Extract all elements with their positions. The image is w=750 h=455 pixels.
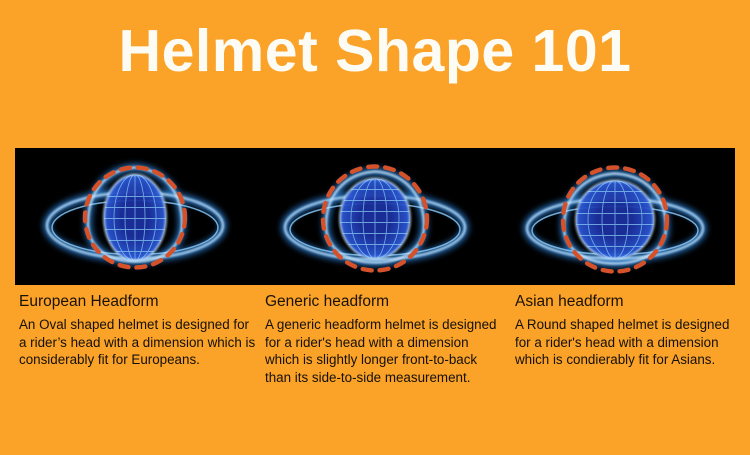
- caption-european: European Headform An Oval shaped helmet …: [19, 292, 257, 369]
- caption-heading: European Headform: [19, 292, 257, 312]
- asian-headform-figure: [495, 148, 735, 285]
- generic-headform-graphic: [270, 149, 480, 284]
- caption-heading: Generic headform: [265, 292, 505, 312]
- generic-headform-figure: [255, 148, 495, 285]
- caption-row: European Headform An Oval shaped helmet …: [0, 292, 750, 452]
- european-headform-figure: [15, 148, 255, 285]
- caption-asian: Asian headform A Round shaped helmet is …: [515, 292, 740, 369]
- caption-body: A generic headform helmet is designed fo…: [265, 316, 505, 386]
- european-headform-graphic: [30, 149, 240, 284]
- headform-figure-row: [15, 148, 735, 285]
- poster-root: Helmet Shape 101: [0, 0, 750, 455]
- caption-heading: Asian headform: [515, 292, 740, 312]
- asian-headform-graphic: [510, 149, 720, 284]
- caption-body: A Round shaped helmet is designed for a …: [515, 316, 740, 369]
- caption-body: An Oval shaped helmet is designed for a …: [19, 316, 257, 369]
- caption-generic: Generic headform A generic headform helm…: [265, 292, 505, 386]
- page-title: Helmet Shape 101: [0, 22, 750, 81]
- headform-diagram-panel: [15, 148, 735, 285]
